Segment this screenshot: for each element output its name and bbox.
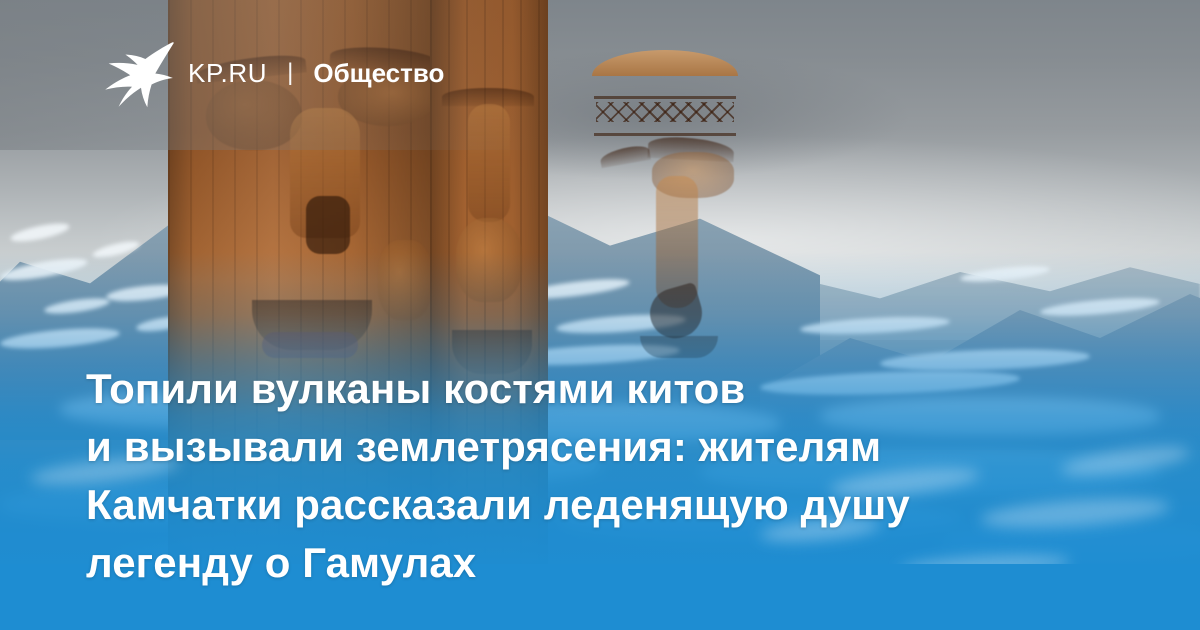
title-line: и вызывали землетрясения: жителям — [86, 418, 1126, 476]
article-share-card: KP.RU | Общество Топили вулканы костями … — [0, 0, 1200, 630]
brand-name[interactable]: KP.RU — [188, 58, 267, 89]
swallow-bird-logo-icon[interactable] — [100, 38, 174, 108]
title-line: Камчатки рассказали леденящую душу — [86, 476, 1126, 534]
rubric-label[interactable]: Общество — [313, 58, 444, 89]
header-separator: | — [287, 59, 293, 87]
title-line: легенду о Гамулах — [86, 534, 1126, 592]
site-header: KP.RU | Общество — [100, 38, 444, 108]
title-line: Топили вулканы костями китов — [86, 360, 1126, 418]
article-title: Топили вулканы костями китов и вызывали … — [86, 360, 1126, 592]
